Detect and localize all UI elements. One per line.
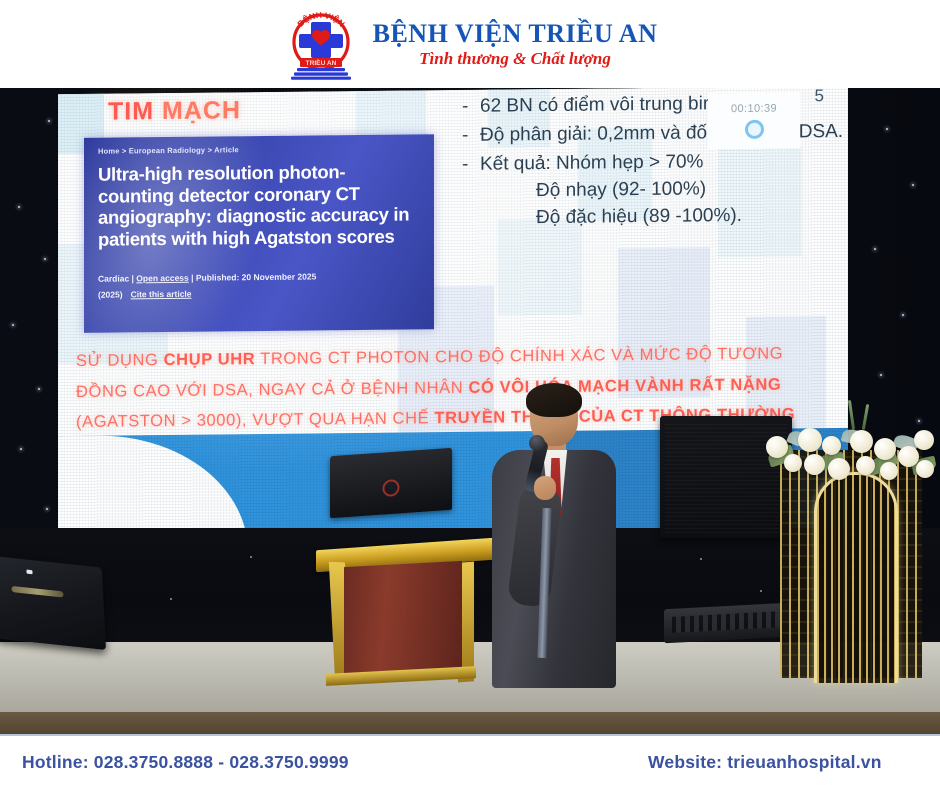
article-title: Ultra-high resolution photon-counting de… [98,160,420,250]
conclusion-part-b: CHỤP UHR [164,350,256,369]
presenter-hair [526,383,582,417]
article-breadcrumb: Home > European Radiology > Article [98,145,239,155]
slide-section-title-strong: TIM [108,97,154,125]
floral-arch [766,388,934,680]
footer-hotline: Hotline: 028.3750.8888 - 028.3750.9999 [22,752,349,773]
poster-page: BỆNH VIỆN TRIỀU AN BỆNH VIỆN TRIỀU AN Tì… [0,0,940,788]
flower-arrangement [764,414,936,492]
hospital-name: BỆNH VIỆN TRIỀU AN [373,20,658,47]
laptop-brand-icon [383,479,400,497]
slide-bullet-3-text: Kết quả: Nhóm hẹp > 70% [480,151,703,174]
article-year: (2025) [98,289,123,299]
footer-website[interactable]: Website: trieuanhospital.vn [648,752,882,773]
article-card: Home > European Radiology > Article Ultr… [84,134,434,333]
page-header: BỆNH VIỆN TRIỀU AN BỆNH VIỆN TRIỀU AN Tì… [0,0,940,88]
record-indicator-icon [745,120,764,139]
podium [330,510,480,678]
presenter [486,388,618,688]
hospital-tagline: Tình thương & Chất lượng [419,50,611,68]
conference-photo: TIM MẠCH Home > European Radiology > Art… [0,88,940,736]
brand-block: BỆNH VIỆN TRIỀU AN Tình thương & Chất lư… [373,20,658,68]
podium-front-panel [344,561,462,683]
slide-subline-specificity: Độ đặc hiệu (89 -100%). [480,202,848,233]
conclusion-part-a: SỬ DỤNG [76,351,164,370]
presenter-hand [534,476,556,500]
speaker-led-icon [26,570,32,575]
slide-section-title-rest: MẠCH [154,96,241,125]
hospital-logo-icon: BỆNH VIỆN TRIỀU AN [283,8,359,80]
article-meta-line-2: (2025)Cite this article [98,289,192,300]
conclusion-part-e: (AGATSTON > 3000), VƯỢT QUA HẠN CHẾ [76,409,434,431]
recording-timer-widget: 00:10:39 [708,92,800,149]
cite-this-article-link: Cite this article [131,289,192,300]
article-subject: Cardiac | [98,273,136,283]
article-published: | Published: 20 November 2025 [189,271,317,282]
laptop [330,448,452,519]
slide-section-title: TIM MẠCH [108,96,241,126]
open-access-link: Open access [136,273,188,284]
slide-corner-glyph: 5 [815,88,824,106]
slide-bullet-3: Kết quả: Nhóm hẹp > 70% Độ nhạy (92- 100… [458,148,848,233]
stage-edge [0,712,940,736]
stage-monitor-speaker [0,556,106,650]
article-meta-line-1: Cardiac | Open access | Published: 20 No… [98,271,316,283]
arch-doorway [814,472,898,683]
page-footer: Hotline: 028.3750.8888 - 028.3750.9999 W… [0,734,940,788]
slide-subline-sensitivity: Độ nhạy (92- 100%) [480,175,848,206]
recording-timer-value: 00:10:39 [731,103,777,115]
